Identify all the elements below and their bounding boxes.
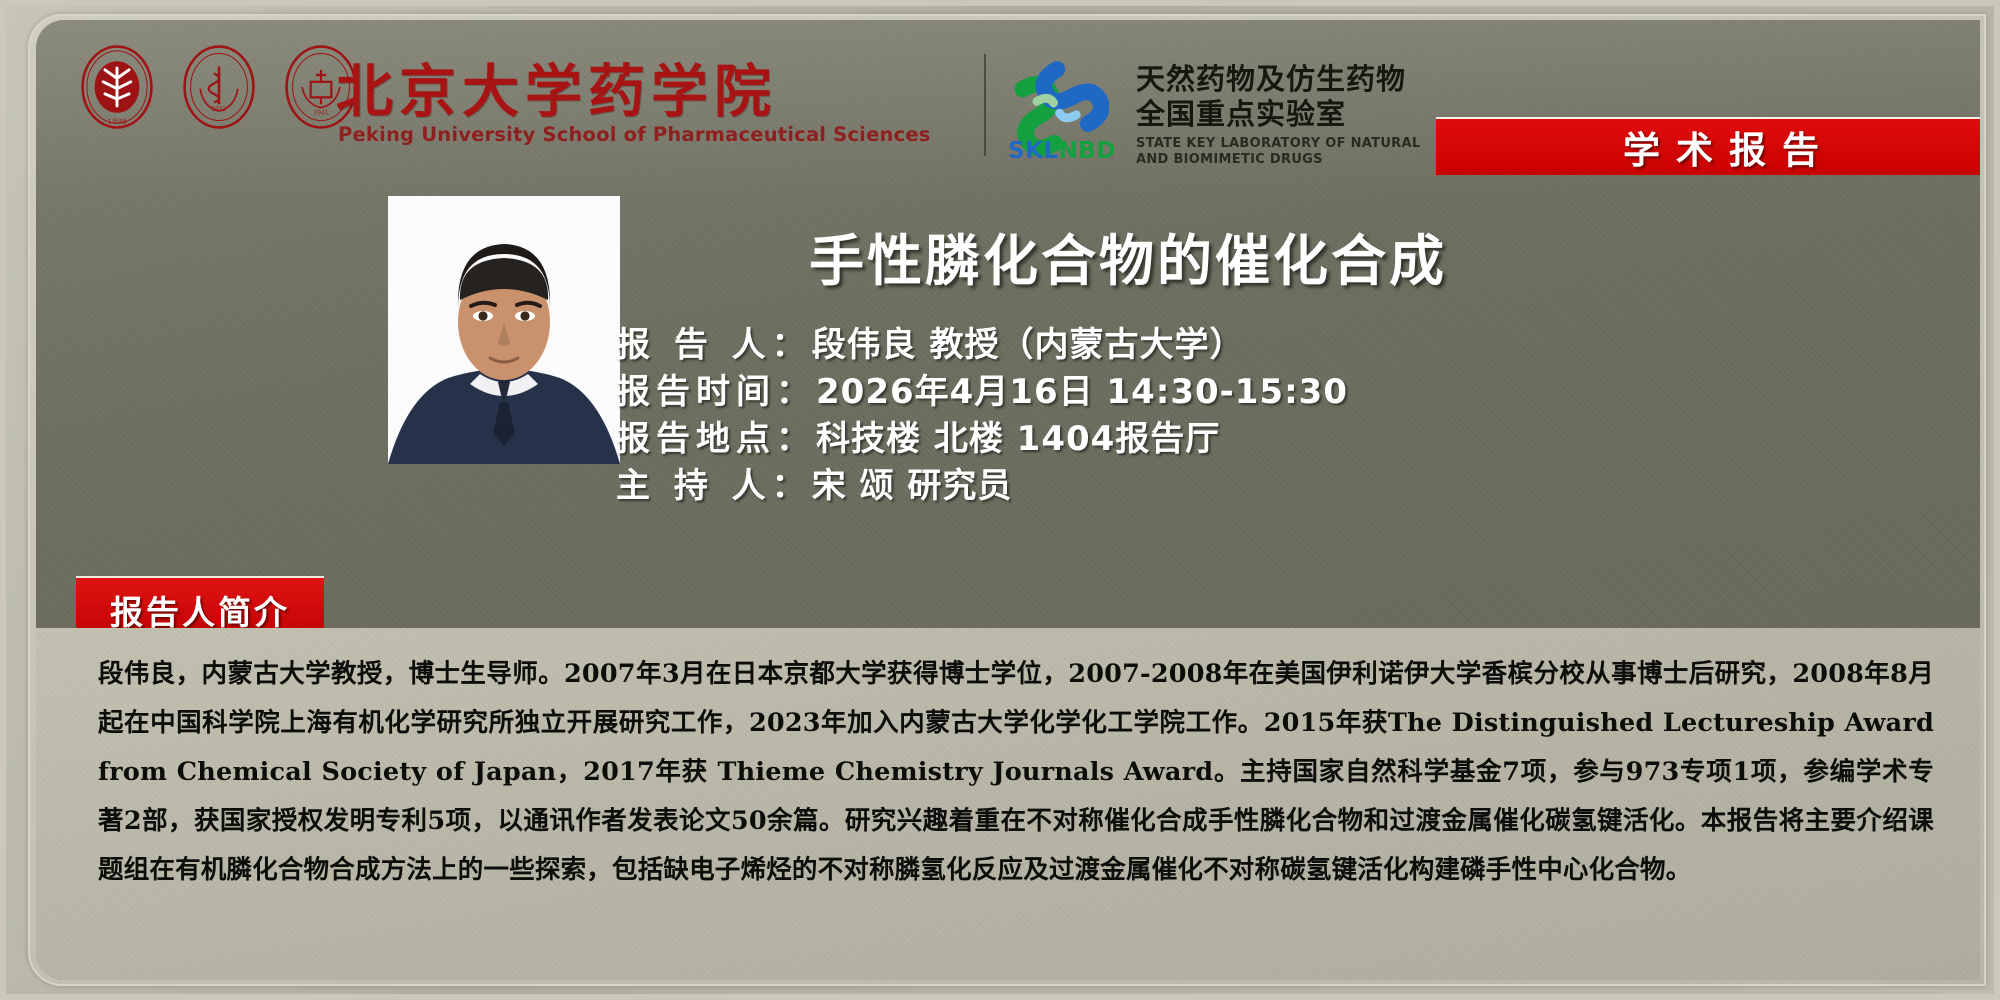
sklnbd-text-part1: SKL (1008, 138, 1059, 164)
lab-name-chinese-line2: 全国重点实验室 (1136, 97, 1406, 132)
talk-detail-lines: 报 告 人：段伟良 教授（内蒙古大学） 报告时间：2026年4月16日 14:3… (616, 322, 1960, 510)
talk-host-value: 宋 颂 研究员 (812, 466, 1013, 506)
header-divider (984, 54, 986, 156)
lab-name-chinese-line1: 天然药物及仿生药物 (1136, 62, 1406, 97)
svg-text:1941: 1941 (313, 110, 328, 117)
sklnbd-text-part2: NBD (1059, 138, 1116, 164)
speaker-bio-text: 段伟良，内蒙古大学教授，博士生导师。2007年3月在日本京都大学获得博士学位，2… (98, 650, 1934, 895)
lab-name-english-line2: AND BIOMIMETIC DRUGS (1136, 152, 1420, 168)
academic-lecture-banner-label: 学术报告 (1607, 120, 1835, 174)
academic-lecture-banner: 学术报告 (1436, 117, 1980, 175)
peking-university-seal: 1898 (74, 44, 160, 130)
poster-main-panel: 1898 1912 (36, 20, 1980, 980)
university-seals-group: 1898 1912 (74, 44, 364, 130)
talk-venue-value: 科技楼 北楼 1404报告厅 (816, 419, 1220, 459)
speaker-bio-panel: 段伟良，内蒙古大学教授，博士生导师。2007年3月在日本京都大学获得博士学位，2… (36, 628, 1980, 980)
talk-host-label: 主 持 人： (616, 466, 812, 506)
lab-name-chinese: 天然药物及仿生药物 全国重点实验室 (1136, 62, 1406, 132)
svg-text:1898: 1898 (107, 117, 127, 126)
talk-host-row: 主 持 人：宋 颂 研究员 (616, 463, 1960, 510)
talk-speaker-label: 报 告 人： (616, 325, 812, 365)
poster-header: 1898 1912 (36, 20, 1980, 172)
speaker-portrait (388, 196, 620, 464)
svg-text:1912: 1912 (211, 106, 226, 113)
talk-speaker-row: 报 告 人：段伟良 教授（内蒙古大学） (616, 322, 1960, 369)
sklnbd-logo-text: SKLNBD (1008, 138, 1116, 164)
talk-speaker-value: 段伟良 教授（内蒙古大学） (812, 325, 1245, 365)
talk-info-block: 手性膦化合物的催化合成 报 告 人：段伟良 教授（内蒙古大学） 报告时间：202… (616, 200, 1960, 510)
lab-name-english-line1: STATE KEY LABORATORY OF NATURAL (1136, 136, 1420, 152)
lab-name-english: STATE KEY LABORATORY OF NATURAL AND BIOM… (1136, 136, 1420, 168)
talk-time-label: 报告时间： (616, 372, 816, 412)
talk-venue-row: 报告地点：科技楼 北楼 1404报告厅 (616, 416, 1960, 463)
talk-title: 手性膦化合物的催化合成 (616, 216, 1960, 296)
school-name-english: Peking University School of Pharmaceutic… (338, 123, 931, 146)
academic-lecture-poster: 1898 1912 (0, 0, 2000, 1000)
pku-health-science-center-seal: 1912 (176, 44, 262, 130)
talk-time-row: 报告时间：2026年4月16日 14:30-15:30 (616, 369, 1960, 416)
talk-venue-label: 报告地点： (616, 419, 816, 459)
talk-time-value: 2026年4月16日 14:30-15:30 (816, 372, 1348, 412)
school-name-chinese: 北京大学药学院 (336, 46, 777, 128)
